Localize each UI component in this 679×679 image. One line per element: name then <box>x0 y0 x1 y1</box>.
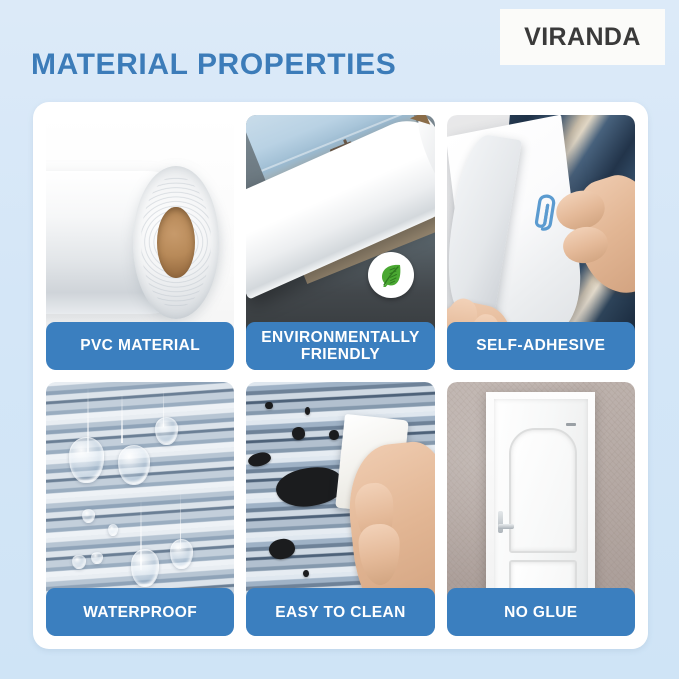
feature-card-self-adhesive[interactable]: SELF-ADHESIVE <box>447 115 635 370</box>
feature-panel: PVC MATERIAL <box>33 102 648 649</box>
feature-label-environmentally-friendly: ENVIRONMENTALLY FRIENDLY <box>246 322 434 370</box>
feature-card-waterproof[interactable]: WATERPROOF <box>46 382 234 637</box>
feature-card-pvc-material[interactable]: PVC MATERIAL <box>46 115 234 370</box>
feature-card-easy-to-clean[interactable]: EASY TO CLEAN <box>246 382 434 637</box>
infographic-page: VIRANDA MATERIAL PROPERTIES PVC MATERIAL <box>0 0 679 679</box>
brand-badge: VIRANDA <box>500 9 665 65</box>
stain <box>265 402 273 410</box>
page-title: MATERIAL PROPERTIES <box>31 48 396 82</box>
paperclip-icon <box>526 189 563 237</box>
stain <box>305 407 311 415</box>
feature-label-waterproof: WATERPROOF <box>46 588 234 636</box>
feature-label-self-adhesive: SELF-ADHESIVE <box>447 322 635 370</box>
leaf-icon <box>368 252 414 298</box>
feature-card-environmentally-friendly[interactable]: ENVIRONMENTALLY FRIENDLY <box>246 115 434 370</box>
feature-label-no-glue: NO GLUE <box>447 588 635 636</box>
roll-core <box>157 207 195 278</box>
feature-grid: PVC MATERIAL <box>46 115 635 636</box>
stain <box>292 427 305 440</box>
brand-name: VIRANDA <box>524 23 641 52</box>
door-handle <box>498 524 514 529</box>
feature-card-no-glue[interactable]: NO GLUE <box>447 382 635 637</box>
feature-label-easy-to-clean: EASY TO CLEAN <box>246 588 434 636</box>
feature-label-pvc-material: PVC MATERIAL <box>46 322 234 370</box>
stain <box>329 430 338 440</box>
